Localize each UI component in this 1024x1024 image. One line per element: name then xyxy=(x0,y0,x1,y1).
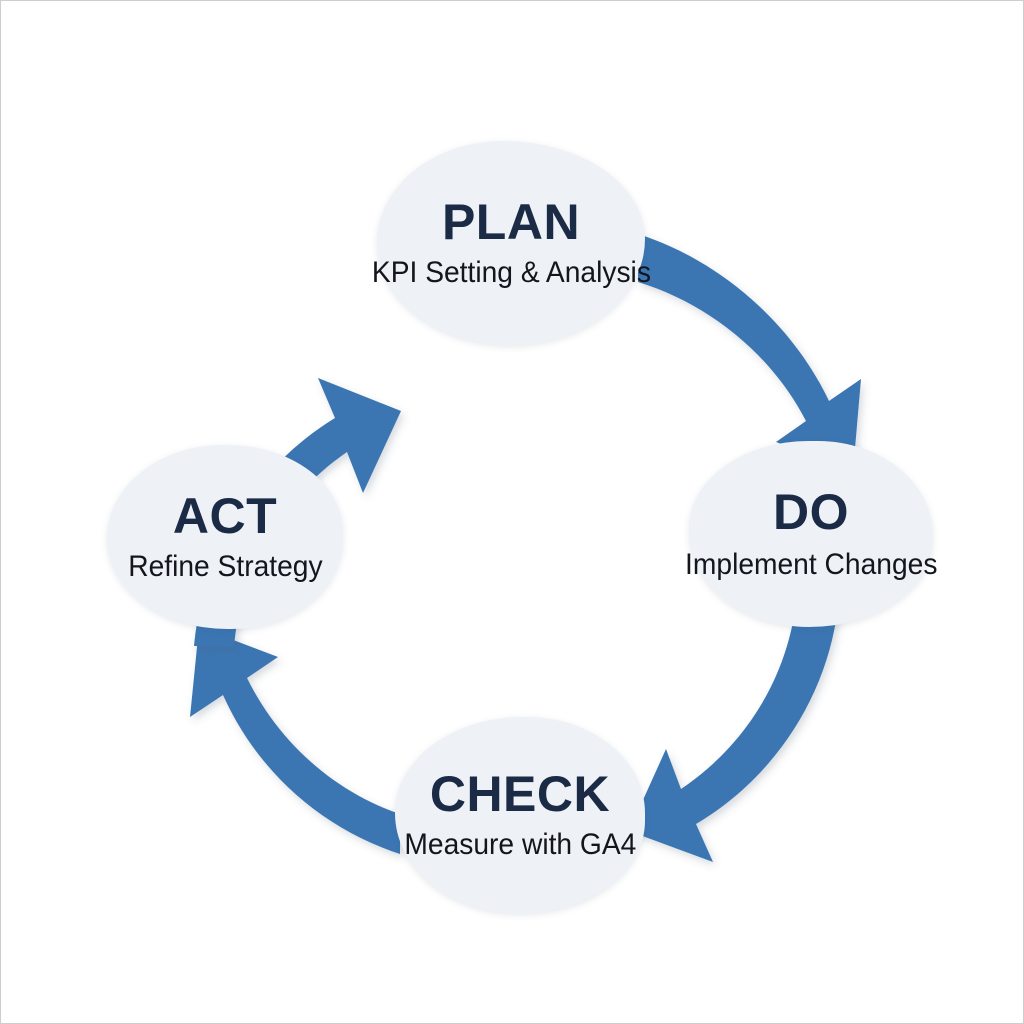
node-check-subtitle: Measure with GA4 xyxy=(404,829,636,861)
node-do-title: DO xyxy=(773,487,849,537)
node-plan[interactable]: PLAN KPI Setting & Analysis xyxy=(377,141,645,345)
node-plan-text: PLAN KPI Setting & Analysis xyxy=(377,197,645,289)
node-do[interactable]: DO Implement Changes xyxy=(689,441,933,627)
arrow-do-to-check xyxy=(629,595,839,862)
node-act-text: ACT Refine Strategy xyxy=(107,491,343,583)
node-check[interactable]: CHECK Measure with GA4 xyxy=(395,717,645,913)
node-check-title: CHECK xyxy=(430,769,610,819)
node-do-subtitle: Implement Changes xyxy=(685,549,937,581)
node-plan-title: PLAN xyxy=(442,197,580,247)
arrow-plan-to-do xyxy=(638,234,861,471)
node-plan-subtitle: KPI Setting & Analysis xyxy=(371,257,650,289)
node-act-subtitle: Refine Strategy xyxy=(128,551,322,583)
node-act[interactable]: ACT Refine Strategy xyxy=(107,445,343,629)
arrow-check-to-act xyxy=(190,627,400,854)
node-do-text: DO Implement Changes xyxy=(689,487,933,581)
node-act-title: ACT xyxy=(173,491,277,541)
node-check-text: CHECK Measure with GA4 xyxy=(395,769,645,861)
pdca-diagram-canvas: PLAN KPI Setting & Analysis DO Implement… xyxy=(0,0,1024,1024)
